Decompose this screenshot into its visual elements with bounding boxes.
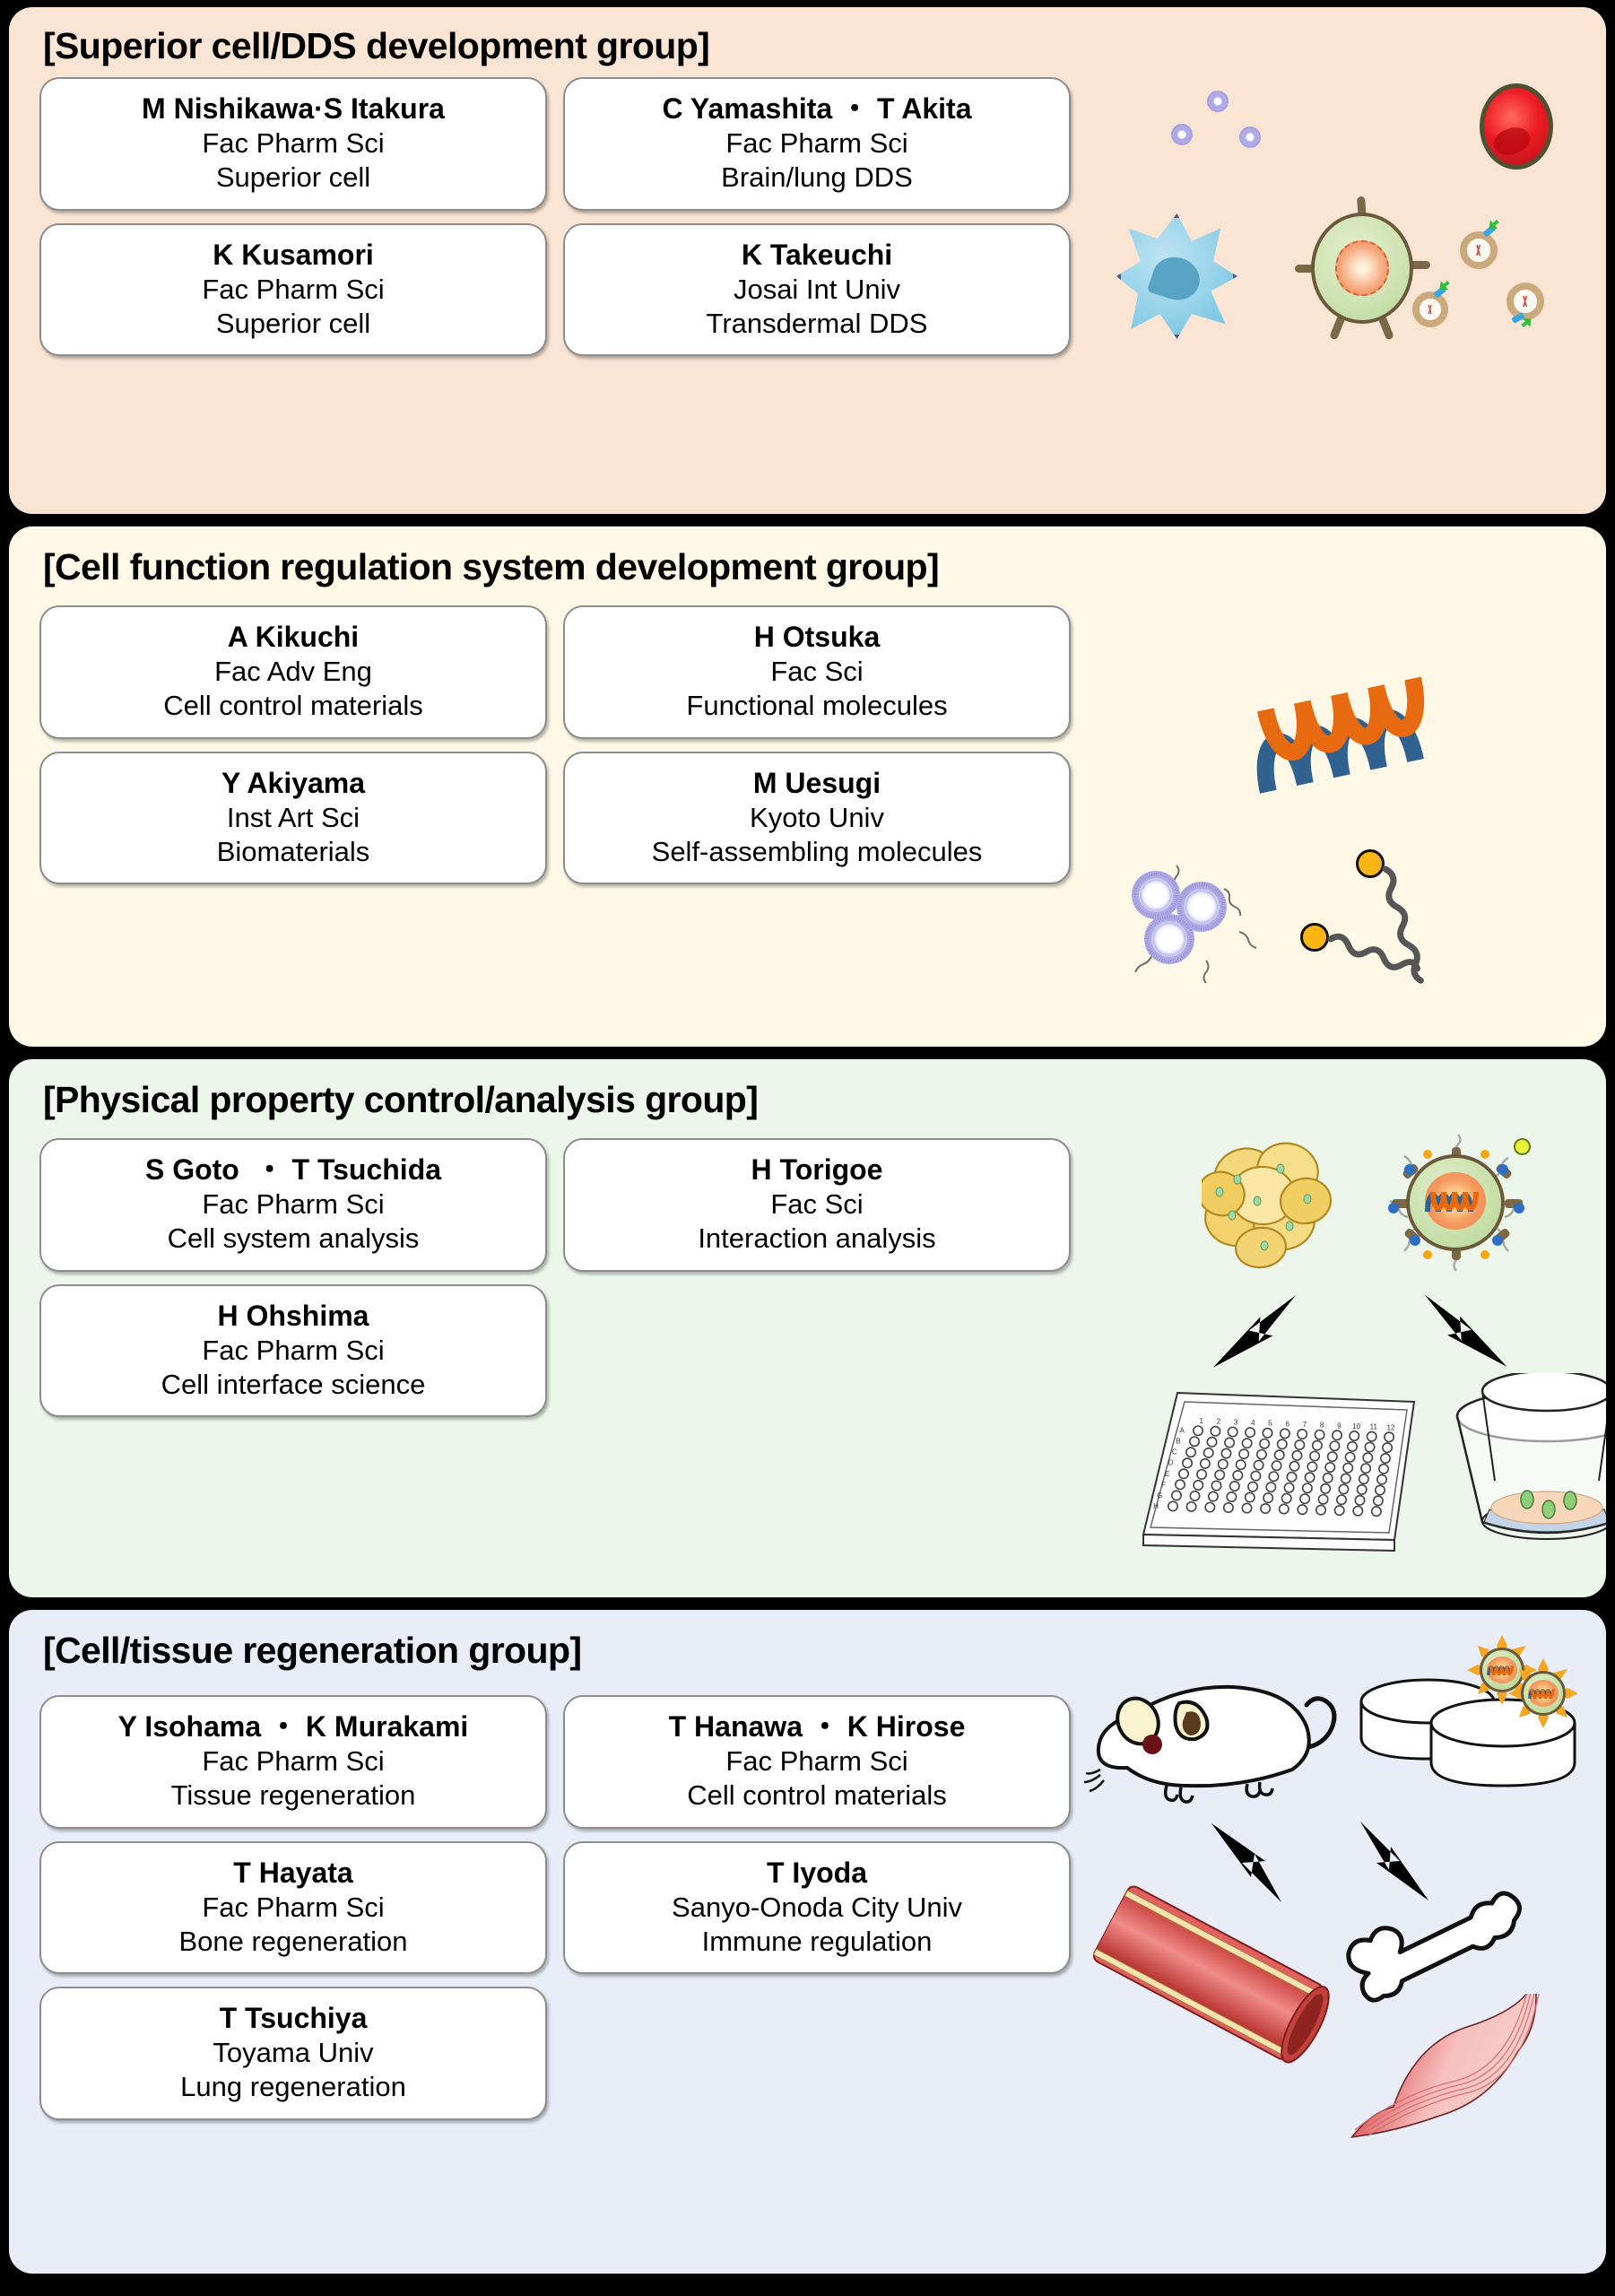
member-name: Y Isohama ・ K Murakami (50, 1709, 536, 1744)
member-card[interactable]: Y Akiyama Inst Art Sci Biomaterials (39, 752, 547, 885)
section-cell-function-regulation: [Cell function regulation system develop… (9, 526, 1606, 1047)
section-superior-cell-dds: [Superior cell/DDS development group] M … (9, 7, 1606, 514)
member-topic: Brain/lung DDS (574, 161, 1060, 195)
svg-text:6: 6 (1285, 1420, 1289, 1428)
liposome-icon (1207, 91, 1229, 112)
member-affiliation: Sanyo-Onoda City Univ (574, 1891, 1060, 1925)
member-affiliation: Fac Pharm Sci (50, 1744, 536, 1779)
section-title: [Cell/tissue regeneration group] (43, 1630, 581, 1672)
dna-helix-icon (1239, 657, 1463, 804)
svg-text:B: B (1176, 1438, 1180, 1446)
member-topic: Functional molecules (574, 689, 1060, 723)
member-affiliation: Fac Pharm Sci (50, 1891, 536, 1925)
96-well-plate-icon: 123456789101112 ABCDEFGH (1134, 1382, 1421, 1570)
member-card[interactable]: H Ohshima Fac Pharm Sci Cell interface s… (39, 1284, 547, 1418)
arrow-down-left-icon (1200, 1282, 1298, 1380)
member-topic: Cell control materials (574, 1779, 1060, 1813)
member-name: Y Akiyama (50, 766, 536, 801)
card-row: H Ohshima Fac Pharm Sci Cell interface s… (39, 1284, 1071, 1418)
section-physical-property-control: [Physical property control/analysis grou… (9, 1059, 1606, 1597)
svg-text:C: C (1172, 1448, 1177, 1457)
member-affiliation: Fac Sci (574, 1187, 1060, 1222)
svg-text:D: D (1168, 1459, 1174, 1467)
svg-text:3: 3 (1234, 1418, 1238, 1426)
svg-text:12: 12 (1387, 1423, 1395, 1431)
svg-text:5: 5 (1268, 1420, 1272, 1428)
member-card[interactable]: T Tsuchiya Toyama Univ Lung regeneration (39, 1987, 547, 2120)
svg-text:11: 11 (1370, 1423, 1378, 1431)
member-affiliation: Fac Sci (574, 655, 1060, 689)
member-name: C Yamashita ・ T Akita (574, 91, 1060, 126)
spiked-cell-icon (1307, 209, 1419, 330)
arrow-down-right-icon (1417, 1282, 1515, 1380)
liposome-icon (1239, 126, 1261, 148)
section-title: [Cell function regulation system develop… (43, 546, 939, 588)
member-topic: Self-assembling molecules (574, 835, 1060, 869)
member-card[interactable]: S Goto ・ T Tsuchida Fac Pharm Sci Cell s… (39, 1138, 547, 1272)
member-name: S Goto ・ T Tsuchida (50, 1152, 536, 1187)
member-topic: Biomaterials (50, 835, 536, 869)
muscle-icon (1323, 1994, 1583, 2155)
member-affiliation: Fac Adv Eng (50, 655, 536, 689)
member-name: H Torigoe (574, 1152, 1060, 1187)
member-name: H Ohshima (50, 1299, 536, 1334)
member-card[interactable]: M Nishikawa·S Itakura Fac Pharm Sci Supe… (39, 77, 547, 211)
exosome-icon (1412, 291, 1448, 327)
member-card-grid: M Nishikawa·S Itakura Fac Pharm Sci Supe… (39, 77, 1071, 356)
member-name: T Hanawa ・ K Hirose (574, 1709, 1060, 1744)
member-affiliation: Fac Pharm Sci (574, 1744, 1060, 1779)
mouse-icon (1081, 1662, 1341, 1823)
member-card[interactable]: H Torigoe Fac Sci Interaction analysis (563, 1138, 1071, 1272)
member-topic: Interaction analysis (574, 1222, 1060, 1256)
member-card[interactable]: A Kikuchi Fac Adv Eng Cell control mater… (39, 605, 547, 739)
org-chart-board: [Superior cell/DDS development group] M … (0, 0, 1615, 2296)
pegylated-liposome-icon (1121, 849, 1264, 984)
liposome-icon (1171, 124, 1193, 145)
member-affiliation: Josai Int Univ (574, 273, 1060, 307)
exosome-icon (1460, 231, 1498, 269)
exosome-icon (1506, 283, 1544, 320)
section-title: [Physical property control/analysis grou… (43, 1079, 758, 1121)
card-row: K Kusamori Fac Pharm Sci Superior cell K… (39, 223, 1071, 357)
member-name: K Kusamori (50, 238, 536, 273)
svg-text:10: 10 (1352, 1422, 1360, 1431)
svg-text:2: 2 (1217, 1418, 1221, 1426)
culture-beaker-icon (1448, 1373, 1606, 1552)
illustration-group-regeneration (1063, 1637, 1606, 2265)
member-name: H Otsuka (574, 620, 1060, 655)
member-affiliation: Inst Art Sci (50, 801, 536, 835)
member-card[interactable]: K Kusamori Fac Pharm Sci Superior cell (39, 223, 547, 357)
member-name: T Hayata (50, 1856, 536, 1891)
member-name: T Iyoda (574, 1856, 1060, 1891)
card-row: T Hayata Fac Pharm Sci Bone regeneration… (39, 1841, 1071, 1975)
svg-text:F: F (1161, 1481, 1166, 1489)
svg-text:8: 8 (1320, 1422, 1324, 1430)
svg-text:E: E (1165, 1470, 1169, 1478)
member-card-grid: Y Isohama ・ K Murakami Fac Pharm Sci Tis… (39, 1695, 1071, 2120)
member-card-grid: A Kikuchi Fac Adv Eng Cell control mater… (39, 605, 1071, 884)
member-topic: Superior cell (50, 307, 536, 341)
member-name: T Tsuchiya (50, 2001, 536, 2036)
svg-text:1: 1 (1199, 1417, 1203, 1425)
section-cell-tissue-regeneration: [Cell/tissue regeneration group] Y Isoha… (9, 1610, 1606, 2274)
member-card[interactable]: T Hanawa ・ K Hirose Fac Pharm Sci Cell c… (563, 1695, 1071, 1829)
arrow-down-right-icon (1348, 1814, 1446, 1913)
member-topic: Lung regeneration (50, 2070, 536, 2104)
svg-text:H: H (1153, 1502, 1159, 1510)
member-topic: Transdermal DDS (574, 307, 1060, 341)
blood-vessel-icon (1079, 1874, 1348, 2081)
member-name: M Uesugi (574, 766, 1060, 801)
member-topic: Cell control materials (50, 689, 536, 723)
member-name: K Takeuchi (574, 238, 1060, 273)
member-affiliation: Kyoto Univ (574, 801, 1060, 835)
member-card[interactable]: M Uesugi Kyoto Univ Self-assembling mole… (563, 752, 1071, 885)
member-affiliation: Fac Pharm Sci (50, 1334, 536, 1368)
section-title: [Superior cell/DDS development group] (43, 25, 709, 67)
member-topic: Cell system analysis (50, 1222, 536, 1256)
petri-dish-icon (1354, 1637, 1578, 1807)
member-card[interactable]: T Hayata Fac Pharm Sci Bone regeneration (39, 1841, 547, 1975)
svg-text:G: G (1157, 1492, 1162, 1500)
arrow-up-left-icon (1195, 1814, 1294, 1913)
member-card[interactable]: T Iyoda Sanyo-Onoda City Univ Immune reg… (563, 1841, 1071, 1975)
gold-nanoparticle-polymer-icon (1300, 840, 1569, 1002)
functionalized-vesicle-icon (1383, 1131, 1531, 1274)
member-card[interactable]: H Otsuka Fac Sci Functional molecules (563, 605, 1071, 739)
card-row: T Tsuchiya Toyama Univ Lung regeneration (39, 1987, 1071, 2120)
card-row: A Kikuchi Fac Adv Eng Cell control mater… (39, 605, 1071, 739)
svg-text:A: A (1180, 1427, 1185, 1435)
member-card[interactable]: C Yamashita ・ T Akita Fac Pharm Sci Brai… (563, 77, 1071, 211)
illustration-group-dds (1121, 83, 1605, 487)
member-topic: Cell interface science (50, 1368, 536, 1402)
card-row: Y Akiyama Inst Art Sci Biomaterials M Ue… (39, 752, 1071, 885)
member-topic: Immune regulation (574, 1925, 1060, 1959)
member-name: A Kikuchi (50, 620, 536, 655)
member-affiliation: Fac Pharm Sci (50, 1187, 536, 1222)
member-card-grid: S Goto ・ T Tsuchida Fac Pharm Sci Cell s… (39, 1138, 1071, 1417)
bone-icon (1330, 1877, 1536, 2003)
member-topic: Tissue regeneration (50, 1779, 536, 1813)
member-topic: Superior cell (50, 161, 536, 195)
member-card[interactable]: Y Isohama ・ K Murakami Fac Pharm Sci Tis… (39, 1695, 547, 1829)
dendritic-cell-icon (1116, 213, 1237, 339)
card-row: S Goto ・ T Tsuchida Fac Pharm Sci Cell s… (39, 1138, 1071, 1272)
red-blood-cell-icon (1480, 83, 1553, 170)
member-affiliation: Toyama Univ (50, 2036, 536, 2070)
spheroid-icon (1202, 1133, 1336, 1272)
card-row: Y Isohama ・ K Murakami Fac Pharm Sci Tis… (39, 1695, 1071, 1829)
member-affiliation: Fac Pharm Sci (574, 126, 1060, 161)
card-row: M Nishikawa·S Itakura Fac Pharm Sci Supe… (39, 77, 1071, 211)
illustration-group-cell-function (1121, 571, 1605, 1020)
member-card[interactable]: K Takeuchi Josai Int Univ Transdermal DD… (563, 223, 1071, 357)
member-affiliation: Fac Pharm Sci (50, 273, 536, 307)
member-affiliation: Fac Pharm Sci (50, 126, 536, 161)
svg-text:7: 7 (1303, 1421, 1307, 1429)
svg-text:4: 4 (1251, 1419, 1255, 1427)
member-name: M Nishikawa·S Itakura (50, 91, 536, 126)
svg-text:9: 9 (1337, 1422, 1341, 1430)
illustration-group-physical-property: 123456789101112 ABCDEFGH (1040, 1113, 1606, 1579)
member-topic: Bone regeneration (50, 1925, 536, 1959)
